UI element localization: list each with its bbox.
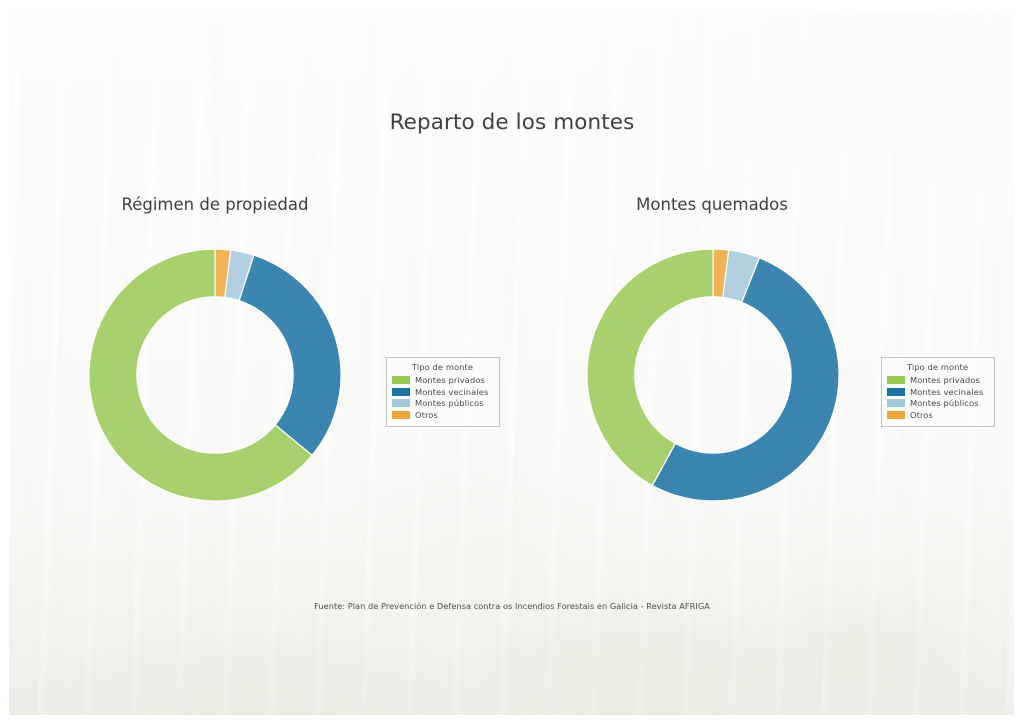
- legend-title: Tipo de monte: [887, 362, 988, 372]
- infographic-content: Reparto de los montes Régimen de propied…: [0, 0, 1024, 724]
- donut-svg-regimen-de-propiedad[interactable]: [84, 244, 346, 506]
- legend-item-label: Otros: [415, 410, 438, 420]
- chart-title-regimen-de-propiedad: Régimen de propiedad: [45, 195, 385, 214]
- legend-item-montes-publicos[interactable]: Montes públicos: [887, 398, 988, 408]
- color-swatch-darkblue-icon: [887, 388, 905, 396]
- legend-item-otros[interactable]: Otros: [887, 410, 988, 420]
- color-swatch-lightblue-icon: [887, 399, 905, 407]
- color-swatch-green-icon: [392, 376, 410, 384]
- color-swatch-green-icon: [887, 376, 905, 384]
- legend-item-montes-vecinales[interactable]: Montes vecinales: [392, 387, 493, 397]
- legend-item-label: Montes públicos: [910, 398, 979, 408]
- legend-item-label: Montes vecinales: [910, 387, 983, 397]
- legend-item-montes-vecinales[interactable]: Montes vecinales: [887, 387, 988, 397]
- color-swatch-orange-icon: [887, 411, 905, 419]
- donut-slice[interactable]: [587, 249, 713, 485]
- legend-item-otros[interactable]: Otros: [392, 410, 493, 420]
- source-note: Fuente: Plan de Prevención e Defensa con…: [0, 601, 1024, 611]
- legend-regimen-de-propiedad: Tipo de monte Montes privados Montes vec…: [386, 357, 500, 427]
- page-title: Reparto de los montes: [0, 110, 1024, 135]
- legend-item-label: Montes privados: [910, 375, 980, 385]
- legend-item-montes-privados[interactable]: Montes privados: [887, 375, 988, 385]
- legend-item-montes-publicos[interactable]: Montes públicos: [392, 398, 493, 408]
- color-swatch-darkblue-icon: [392, 388, 410, 396]
- donut-slice[interactable]: [239, 255, 341, 455]
- chart-panel-montes-quemados: Montes quemados: [502, 195, 922, 535]
- donut-chart-montes-quemados[interactable]: [582, 244, 844, 506]
- color-swatch-orange-icon: [392, 411, 410, 419]
- chart-title-montes-quemados: Montes quemados: [542, 195, 882, 214]
- donut-chart-regimen-de-propiedad[interactable]: [84, 244, 346, 506]
- legend-montes-quemados: Tipo de monte Montes privados Montes vec…: [881, 357, 995, 427]
- donut-svg-montes-quemados[interactable]: [582, 244, 844, 506]
- chart-panel-regimen-de-propiedad: Régimen de propiedad: [5, 195, 425, 535]
- legend-title: Tipo de monte: [392, 362, 493, 372]
- legend-item-label: Otros: [910, 410, 933, 420]
- color-swatch-lightblue-icon: [392, 399, 410, 407]
- legend-item-label: Montes vecinales: [415, 387, 488, 397]
- legend-item-label: Montes públicos: [415, 398, 484, 408]
- legend-item-label: Montes privados: [415, 375, 485, 385]
- legend-item-montes-privados[interactable]: Montes privados: [392, 375, 493, 385]
